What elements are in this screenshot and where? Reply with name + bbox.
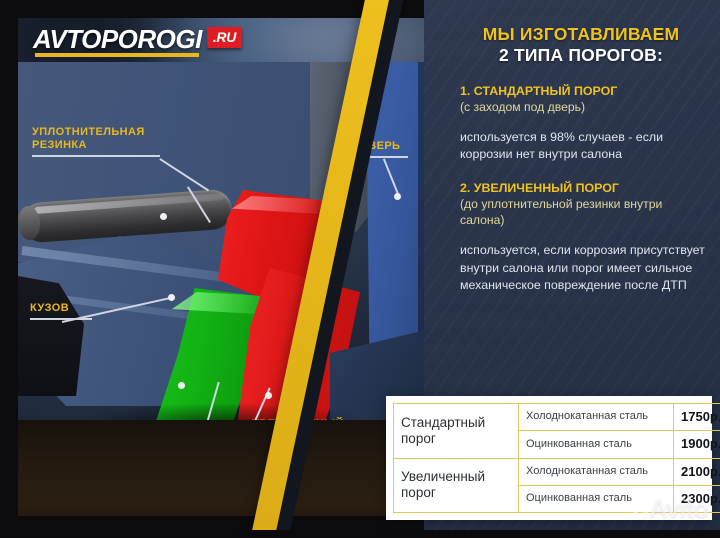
label-rubber-seal-line1: УПЛОТНИТЕЛЬНАЯ [32,126,145,138]
table-row: Увеличенный порог Холоднокатанная сталь … [394,458,720,485]
brand-logo-word: AVTOPOROGI [33,24,202,55]
label-car-body-text: КУЗОВ [30,302,69,314]
price-table: Стандартный порог Холоднокатанная сталь … [393,403,720,513]
leader-dot-standard-sill [178,382,185,389]
row-price: 1750р. [674,404,720,431]
row-material: Оцинкованная сталь [519,485,674,512]
row-price: 2100р. [674,458,720,485]
section-standard-sill: 1. СТАНДАРТНЫЙ ПОРОГ (с заходом под двер… [460,83,706,164]
leader-dot-enlarged-sill [265,392,272,399]
headline-line-2: 2 ТИПА ПОРОГОВ: [460,45,702,67]
section-standard-title: 1. СТАНДАРТНЫЙ ПОРОГ [460,83,706,99]
label-car-body: КУЗОВ [30,302,86,320]
brand-logo-underline [35,53,199,57]
section-standard-subtitle: (с заходом под дверь) [460,100,706,116]
leader-dot-body [168,294,175,301]
label-underline [32,155,160,157]
section-enlarged-sill: 2. УВЕЛИЧЕННЫЙ ПОРОГ (до уплотнительной … [460,180,706,295]
table-row: Стандартный порог Холоднокатанная сталь … [394,404,720,431]
section-enlarged-title: 2. УВЕЛИЧЕННЫЙ ПОРОГ [460,180,706,196]
section-enlarged-subtitle: (до уплотнительной резинки внутри салона… [460,197,706,229]
row-type-standard: Стандартный порог [394,404,519,459]
leader-dot-door [394,193,401,200]
row-material: Холоднокатанная сталь [519,458,674,485]
headline-block: МЫ ИЗГОТАВЛИВАЕМ 2 ТИПА ПОРОГОВ: [460,24,706,67]
label-rubber-seal-line2: РЕЗИНКА [32,139,87,151]
row-price: 2300р. [674,485,720,512]
label-underline [30,318,92,320]
row-material: Оцинкованная сталь [519,431,674,458]
row-price: 1900р. [674,431,720,458]
section-enlarged-body: используется, если коррозия присутствует… [460,242,706,295]
price-table-card: Стандартный порог Холоднокатанная сталь … [386,396,712,520]
headline-line-1: МЫ ИЗГОТАВЛИВАЕМ [460,24,702,45]
label-rubber-seal: УПЛОТНИТЕЛЬНАЯ РЕЗИНКА [32,126,162,157]
brand-logo-tld: .RU [207,27,242,48]
row-material: Холоднокатанная сталь [519,404,674,431]
brand-logo[interactable]: AVTOPOROGI .RU [33,24,242,55]
row-type-enlarged: Увеличенный порог [394,458,519,513]
leader-dot-seal [160,213,167,220]
section-standard-body: используется в 98% случаев - если корроз… [460,129,706,164]
poster-root: УПЛОТНИТЕЛЬНАЯ РЕЗИНКА КУЗОВ ДВЕРЬ СТАНД… [0,0,720,538]
bottom-strip [0,530,720,538]
